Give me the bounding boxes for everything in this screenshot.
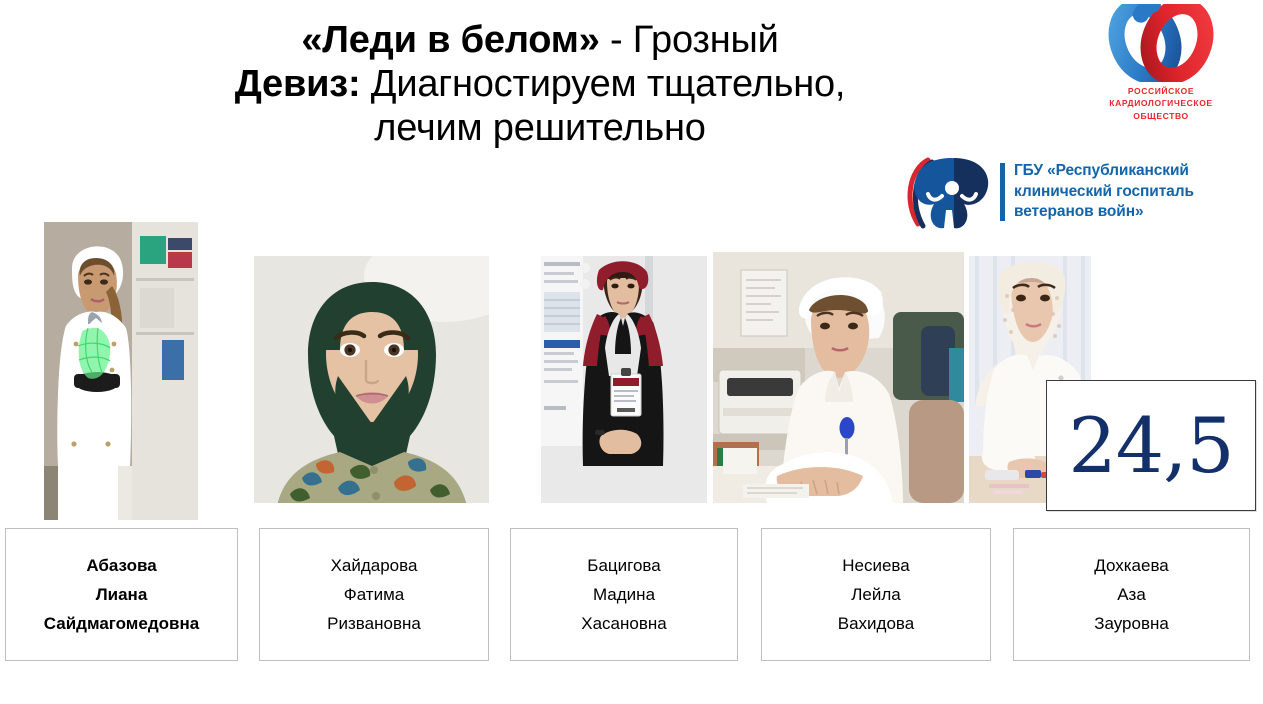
name-card-3-first: Мадина	[593, 580, 655, 609]
rko-heart-rings-icon	[1078, 4, 1244, 82]
team-member-photo-1	[44, 222, 198, 520]
metric-value: 24,5	[1068, 408, 1233, 484]
name-card-3-surname: Бацигова	[587, 551, 660, 580]
name-card-4-first: Лейла	[851, 580, 900, 609]
name-card-5-surname: Дохкаева	[1094, 551, 1168, 580]
republican-veterans-hospital-logo: ГБУ «Республиканский клинический госпита…	[906, 150, 1258, 234]
hospital-text-line-2: клинический госпиталь	[1014, 182, 1194, 203]
rko-text-line-2: КАРДИОЛОГИЧЕСКОЕ	[1078, 97, 1244, 109]
name-card-3-patronymic: Хасановна	[581, 609, 666, 638]
page-title: «Леди в белом» - Грозный Девиз: Диагност…	[40, 18, 1040, 150]
hospital-figure-icon	[906, 152, 998, 232]
name-card-5-first: Аза	[1117, 580, 1146, 609]
title-line-2: Девиз: Диагностируем тщательно,	[40, 62, 1040, 106]
name-card-2: Хайдарова Фатима Ризвановна	[259, 528, 489, 661]
title-line-2-rest: Диагностируем тщательно,	[360, 63, 845, 105]
name-card-1-first: Лиана	[96, 580, 148, 609]
metric-callout: 24,5	[1046, 380, 1256, 511]
name-card-4-surname: Несиева	[842, 551, 909, 580]
title-line-1-rest: - Грозный	[600, 19, 779, 61]
hospital-logo-divider	[1000, 163, 1005, 221]
team-member-photo-3	[541, 256, 707, 503]
name-card-4-patronymic: Вахидова	[838, 609, 914, 638]
name-card-1-patronymic: Сайдмагомедовна	[44, 609, 199, 638]
name-card-2-patronymic: Ризвановна	[327, 609, 421, 638]
name-card-5-patronymic: Зауровна	[1094, 609, 1169, 638]
rko-logo-text: РОССИЙСКОЕ КАРДИОЛОГИЧЕСКОЕ ОБЩЕСТВО	[1078, 85, 1244, 122]
title-line-1: «Леди в белом» - Грозный	[40, 18, 1040, 62]
name-card-1: Абазова Лиана Сайдмагомедовна	[5, 528, 238, 661]
team-member-photo-4	[713, 252, 964, 503]
name-card-4: Несиева Лейла Вахидова	[761, 528, 991, 661]
name-card-5: Дохкаева Аза Зауровна	[1013, 528, 1250, 661]
name-card-2-surname: Хайдарова	[331, 551, 418, 580]
name-card-1-surname: Абазова	[86, 551, 156, 580]
rko-text-line-3: ОБЩЕСТВО	[1078, 110, 1244, 122]
rko-text-line-1: РОССИЙСКОЕ	[1078, 85, 1244, 97]
title-line-2-bold: Девиз:	[235, 63, 361, 105]
hospital-logo-text: ГБУ «Республиканский клинический госпита…	[1014, 161, 1194, 223]
russian-cardiology-society-logo: РОССИЙСКОЕ КАРДИОЛОГИЧЕСКОЕ ОБЩЕСТВО	[1078, 4, 1244, 136]
slide-root: «Леди в белом» - Грозный Девиз: Диагност…	[0, 0, 1263, 704]
title-line-1-bold: «Леди в белом»	[301, 19, 599, 61]
title-line-3: лечим решительно	[40, 106, 1040, 150]
team-names-row: Абазова Лиана Сайдмагомедовна Хайдарова …	[0, 528, 1263, 661]
team-member-photo-2	[254, 256, 489, 503]
hospital-text-line-1: ГБУ «Республиканский	[1014, 161, 1194, 182]
hospital-text-line-3: ветеранов войн»	[1014, 202, 1194, 223]
name-card-2-first: Фатима	[344, 580, 404, 609]
name-card-3: Бацигова Мадина Хасановна	[510, 528, 738, 661]
